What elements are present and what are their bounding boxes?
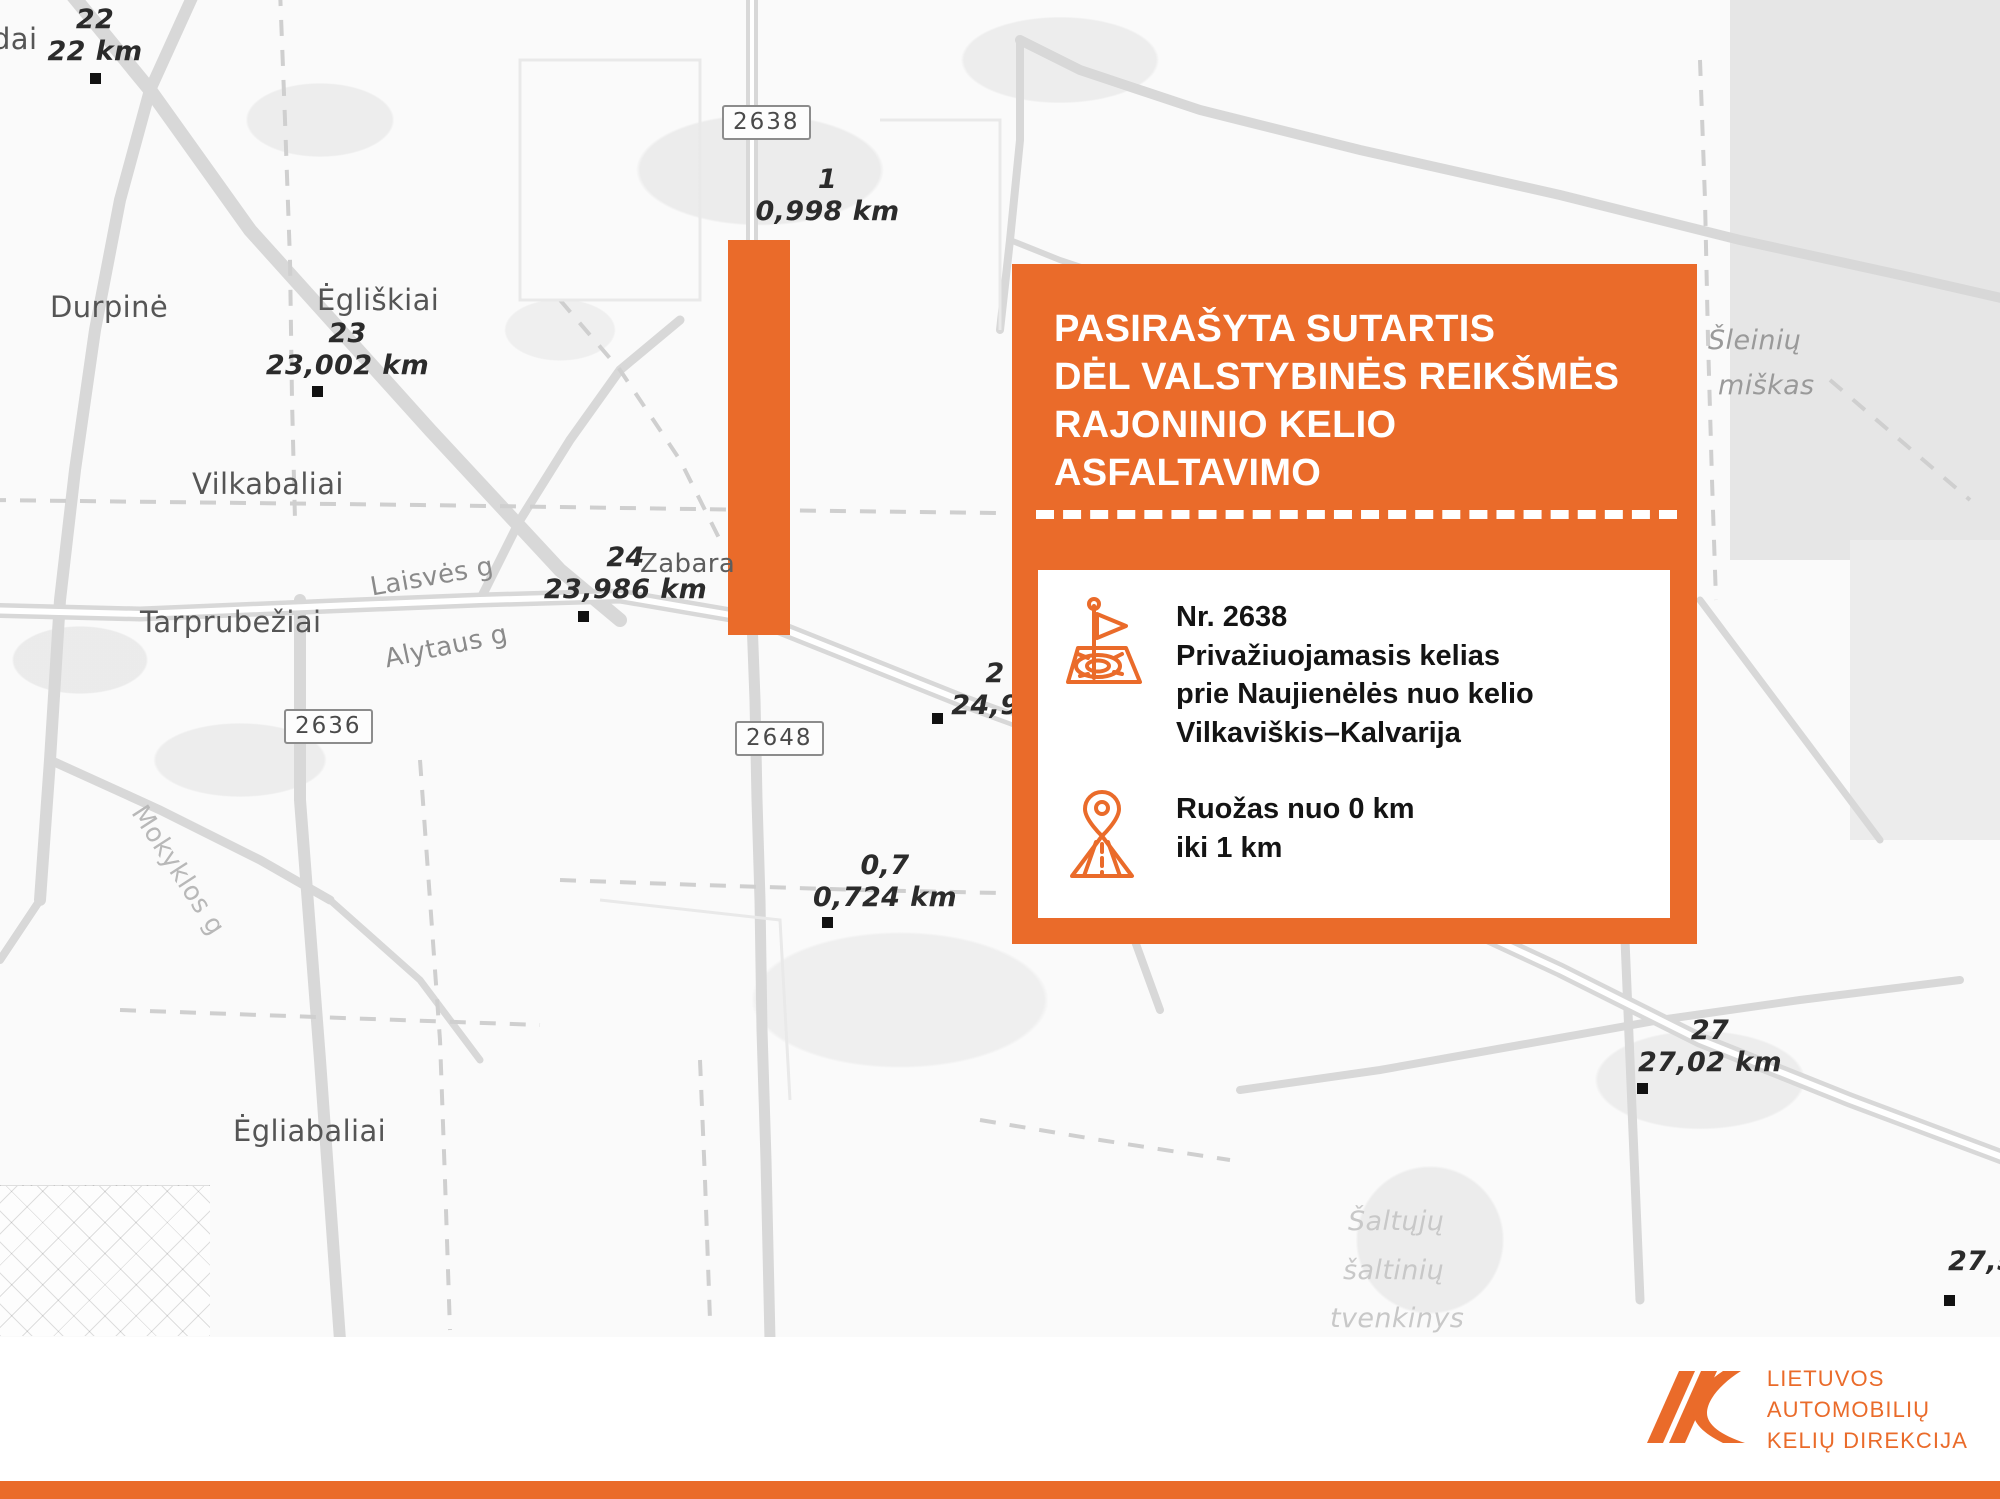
km-label-bottom: 0,998 km xyxy=(755,196,899,227)
km-label-bottom: 22 km xyxy=(47,36,142,67)
footer: LIETUVOS AUTOMOBILIŲ KELIŲ DIREKCIJA xyxy=(0,1337,2000,1499)
road-shield: 2636 xyxy=(284,709,373,744)
km-label-top: 1 xyxy=(740,164,915,196)
water-label: tvenkinys xyxy=(1330,1303,1464,1334)
logo-line-2: AUTOMOBILIŲ xyxy=(1767,1394,1968,1425)
street-label: Zabara xyxy=(640,549,735,579)
poster-root: 22 22 km 23 23,002 km 24 23,986 km 1 0,9… xyxy=(0,0,2000,1499)
map-flag-icon xyxy=(1062,594,1150,690)
water-label: šaltinių xyxy=(1343,1255,1444,1286)
km-label-top: 23 xyxy=(250,318,445,350)
panel-title-line-4: ASFALTAVIMO xyxy=(1054,450,1657,498)
km-label-bottom: 23,002 km xyxy=(266,350,429,381)
road-number: Nr. 2638 xyxy=(1176,598,1534,637)
km-marker-dot xyxy=(822,917,833,928)
km-label-top: 0,7 xyxy=(800,850,970,882)
highlighted-road-segment xyxy=(728,240,790,635)
info-panel: PASIRAŠYTA SUTARTIS DĖL VALSTYBINĖS REIK… xyxy=(1012,264,1697,944)
panel-title: PASIRAŠYTA SUTARTIS DĖL VALSTYBINĖS REIK… xyxy=(1012,264,1697,498)
km-marker-dot xyxy=(578,611,589,622)
lakd-logo-icon xyxy=(1645,1369,1749,1450)
section-line-1: Ruožas nuo 0 km xyxy=(1176,790,1415,829)
place-label: Tarprubežiai xyxy=(140,605,321,639)
place-label: Ėgliabaliai xyxy=(233,1114,386,1148)
km-label-bottom: 0,724 km xyxy=(813,882,957,913)
road-desc-line-3: Vilkaviškis–Kalvarija xyxy=(1176,714,1534,753)
info-row-section-text: Ruožas nuo 0 km iki 1 km xyxy=(1176,786,1415,867)
road-shield: 2648 xyxy=(735,721,824,756)
place-label: Durpinė xyxy=(50,290,168,324)
km-label-bottom: 27,02 km xyxy=(1638,1047,1782,1078)
info-row-road-text: Nr. 2638 Privažiuojamasis kelias prie Na… xyxy=(1176,594,1534,752)
km-label: 27 27,02 km xyxy=(1620,1015,1800,1079)
road-desc-line-2: prie Naujienėlės nuo kelio xyxy=(1176,675,1534,714)
km-label: 0,7 0,724 km xyxy=(800,850,970,914)
water-label: Šaltųjų xyxy=(1348,1206,1444,1237)
place-label: dai xyxy=(0,22,37,56)
km-marker-dot xyxy=(1944,1295,1955,1306)
map-canvas[interactable]: 22 22 km 23 23,002 km 24 23,986 km 1 0,9… xyxy=(0,0,2000,1337)
km-label-bottom: 27,5 xyxy=(1948,1246,2000,1277)
section-line-2: iki 1 km xyxy=(1176,829,1415,868)
km-label-top: 27 xyxy=(1620,1015,1800,1047)
dashed-divider xyxy=(1036,510,1677,519)
forest-label: miškas xyxy=(1718,370,1815,401)
road-pin-icon xyxy=(1062,786,1150,882)
place-label: Vilkabaliai xyxy=(192,467,344,501)
km-marker-dot xyxy=(1637,1083,1648,1094)
organization-name: LIETUVOS AUTOMOBILIŲ KELIŲ DIREKCIJA xyxy=(1767,1363,1968,1457)
place-label: Ėgliškiai xyxy=(317,283,439,317)
road-shield: 2638 xyxy=(722,105,811,140)
km-label: 27,5 xyxy=(1948,1246,2000,1278)
panel-title-line-3: RAJONINIO KELIO xyxy=(1054,402,1657,450)
forest-label: Šleinių xyxy=(1708,325,1801,356)
road-desc-line-1: Privažiuojamasis kelias xyxy=(1176,637,1534,676)
km-label: 23 23,002 km xyxy=(250,318,445,382)
bottom-accent-bar xyxy=(0,1481,2000,1499)
panel-title-line-2: DĖL VALSTYBINĖS REIKŠMĖS xyxy=(1054,354,1657,402)
km-label: 1 0,998 km xyxy=(740,164,915,228)
km-label-top: 22 xyxy=(20,4,170,36)
km-label: 22 22 km xyxy=(20,4,170,68)
info-row-road: Nr. 2638 Privažiuojamasis kelias prie Na… xyxy=(1062,594,1652,752)
panel-title-line-1: PASIRAŠYTA SUTARTIS xyxy=(1054,306,1657,354)
info-row-section: Ruožas nuo 0 km iki 1 km xyxy=(1062,786,1652,882)
organization-logo: LIETUVOS AUTOMOBILIŲ KELIŲ DIREKCIJA xyxy=(1645,1363,1968,1457)
km-marker-dot xyxy=(90,73,101,84)
info-box: Nr. 2638 Privažiuojamasis kelias prie Na… xyxy=(1038,570,1670,918)
logo-line-1: LIETUVOS xyxy=(1767,1363,1968,1394)
km-marker-dot xyxy=(312,386,323,397)
logo-line-3: KELIŲ DIREKCIJA xyxy=(1767,1425,1968,1456)
